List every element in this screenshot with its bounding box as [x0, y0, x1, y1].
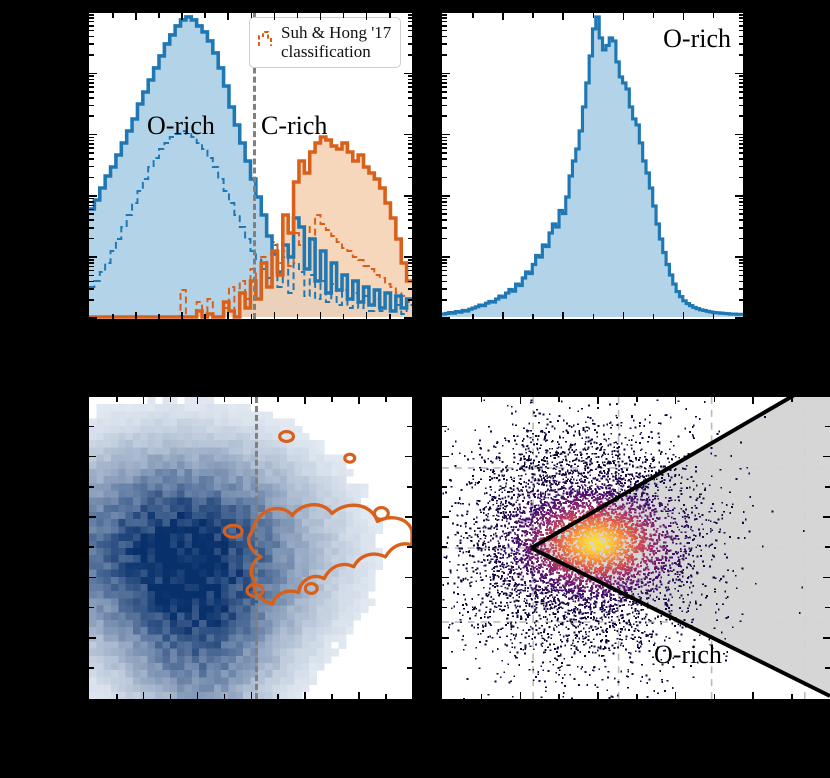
axis-tick — [343, 13, 345, 18]
axis-tick — [442, 275, 447, 277]
axis-tick — [89, 86, 94, 88]
legend-step-marker-icon — [257, 26, 273, 52]
axis-tick — [408, 143, 413, 145]
axis-tick — [407, 426, 412, 428]
axis-tick — [408, 299, 413, 301]
axis-tick — [739, 158, 744, 160]
axis-tick — [89, 21, 94, 23]
axis-tick — [89, 152, 94, 154]
axis-tick — [89, 275, 94, 277]
axis-tick — [408, 54, 413, 56]
axis-tick — [442, 75, 447, 77]
axis-tick — [823, 577, 830, 579]
axis-tick — [389, 13, 391, 18]
axis-tick — [408, 137, 413, 139]
axis-tick — [714, 397, 716, 402]
axis-tick — [442, 115, 447, 117]
axis-tick — [442, 147, 447, 149]
axis-tick — [825, 486, 830, 488]
axis-tick — [735, 134, 743, 136]
axis-tick — [89, 667, 94, 669]
axis-tick — [227, 13, 229, 20]
axis-tick — [274, 312, 276, 319]
axis-tick — [442, 54, 447, 56]
axis-tick — [116, 694, 118, 699]
axis-tick — [739, 54, 744, 56]
axis-tick — [143, 397, 145, 404]
axis-tick — [408, 17, 413, 19]
axis-tick — [739, 201, 744, 203]
axis-tick — [204, 13, 206, 18]
axis-tick — [274, 13, 276, 20]
axis-tick — [562, 13, 564, 20]
axis-tick — [442, 213, 447, 215]
axis-tick — [752, 397, 754, 404]
axis-tick — [739, 281, 744, 283]
axis-tick — [442, 134, 450, 136]
axis-tick — [735, 195, 743, 197]
axis-tick — [408, 275, 413, 277]
axis-tick — [89, 198, 94, 200]
label-o-rich-bottomright: O-rich — [654, 642, 722, 668]
axis-tick — [442, 607, 447, 609]
axis-tick — [442, 21, 447, 23]
axis-tick — [408, 288, 413, 290]
axis-tick — [562, 312, 564, 319]
axis-tick — [442, 152, 447, 154]
axis-tick — [89, 143, 94, 145]
axis-tick — [405, 577, 412, 579]
axis-tick — [89, 486, 94, 488]
axis-tick — [739, 91, 744, 93]
axis-tick — [735, 73, 743, 75]
axis-tick — [558, 397, 560, 402]
axis-tick — [89, 17, 94, 19]
axis-tick — [739, 262, 744, 264]
axis-tick — [739, 205, 744, 207]
axis-tick — [752, 692, 754, 699]
legend-line-2: classification — [281, 42, 371, 61]
axis-tick — [89, 137, 94, 139]
axis-tick — [89, 546, 94, 548]
axis-tick — [442, 30, 447, 32]
axis-tick — [366, 13, 368, 20]
axis-tick — [251, 314, 253, 319]
axis-tick — [442, 262, 447, 264]
panel-top-left[interactable]: O-rich C-rich Suh & Hong '17classificati… — [87, 11, 414, 321]
axis-tick — [442, 266, 447, 268]
axis-tick — [442, 14, 447, 16]
axis-tick — [739, 166, 744, 168]
axis-tick — [170, 397, 172, 402]
axis-tick — [442, 166, 447, 168]
axis-tick — [739, 299, 744, 301]
axis-tick — [158, 314, 160, 319]
axis-tick — [520, 397, 522, 404]
axis-tick — [442, 97, 447, 99]
axis-tick — [343, 314, 345, 319]
axis-tick — [442, 158, 447, 160]
axis-tick — [636, 694, 638, 699]
axis-tick — [89, 25, 94, 27]
axis-tick — [251, 692, 253, 699]
axis-tick — [408, 227, 413, 229]
axis-tick — [442, 43, 447, 45]
panel-bottom-left[interactable] — [87, 395, 414, 701]
axis-tick — [739, 219, 744, 221]
axis-tick — [408, 36, 413, 38]
axis-tick — [224, 694, 226, 699]
axis-tick — [597, 692, 599, 699]
axis-tick — [89, 166, 94, 168]
axis-tick — [89, 73, 97, 75]
axis-tick — [683, 13, 685, 20]
axis-tick — [739, 270, 744, 272]
axis-tick — [825, 546, 830, 548]
density-map-bottom-left — [89, 397, 412, 699]
axis-tick — [89, 140, 94, 142]
axis-tick — [408, 219, 413, 221]
axis-tick — [739, 266, 744, 268]
axis-tick — [442, 259, 447, 261]
axis-tick — [224, 397, 226, 402]
axis-tick — [89, 288, 94, 290]
axis-tick — [358, 397, 360, 404]
axis-tick — [408, 140, 413, 142]
axis-tick — [823, 456, 830, 458]
axis-tick — [89, 456, 96, 458]
figure-root: O-rich C-rich Suh & Hong '17classificati… — [0, 0, 830, 778]
axis-tick — [405, 637, 412, 639]
axis-tick — [158, 13, 160, 18]
legend-suh-hong[interactable]: Suh & Hong '17classification — [249, 17, 401, 68]
axis-tick — [739, 275, 744, 277]
axis-tick — [408, 91, 413, 93]
axis-tick — [89, 426, 94, 428]
axis-tick — [170, 694, 172, 699]
axis-tick — [408, 82, 413, 84]
axis-tick — [442, 201, 447, 203]
axis-tick — [408, 105, 413, 107]
histogram-top-right — [442, 13, 743, 319]
axis-tick — [404, 195, 412, 197]
axis-tick — [442, 91, 447, 93]
axis-tick — [331, 397, 333, 402]
axis-tick — [825, 607, 830, 609]
axis-tick — [389, 314, 391, 319]
axis-tick — [739, 36, 744, 38]
axis-tick — [408, 209, 413, 211]
axis-tick — [675, 397, 677, 404]
axis-tick — [408, 198, 413, 200]
axis-tick — [89, 299, 94, 301]
axis-tick — [331, 694, 333, 699]
axis-tick — [408, 281, 413, 283]
axis-tick — [593, 13, 595, 18]
axis-tick — [739, 198, 744, 200]
axis-tick — [739, 238, 744, 240]
axis-tick — [442, 238, 447, 240]
axis-tick — [623, 13, 625, 20]
axis-tick — [89, 607, 94, 609]
axis-tick — [89, 82, 94, 84]
legend-label: Suh & Hong '17classification — [281, 23, 391, 61]
axis-tick — [442, 456, 449, 458]
axis-tick — [442, 105, 447, 107]
axis-tick — [407, 667, 412, 669]
axis-tick — [89, 97, 94, 99]
axis-tick — [89, 262, 94, 264]
axis-tick — [89, 134, 97, 136]
axis-tick — [442, 177, 447, 179]
scatter-density-bottom-right — [442, 397, 830, 699]
legend-line-1: Suh & Hong '17 — [281, 23, 391, 42]
axis-tick — [89, 637, 96, 639]
axis-tick — [739, 75, 744, 77]
axis-tick — [181, 13, 183, 20]
axis-tick — [739, 213, 744, 215]
axis-tick — [675, 692, 677, 699]
axis-tick — [89, 281, 94, 283]
axis-tick — [442, 137, 447, 139]
axis-tick — [739, 209, 744, 211]
axis-tick — [825, 426, 830, 428]
axis-tick — [251, 13, 253, 18]
axis-tick — [89, 91, 94, 93]
axis-tick — [408, 266, 413, 268]
axis-tick — [89, 205, 94, 207]
axis-tick — [442, 205, 447, 207]
axis-tick — [442, 198, 447, 200]
axis-tick — [442, 516, 449, 518]
panel-bottom-right[interactable]: O-rich — [440, 395, 830, 701]
axis-tick — [739, 115, 744, 117]
axis-tick — [739, 21, 744, 23]
axis-tick — [89, 158, 94, 160]
axis-tick — [408, 259, 413, 261]
axis-tick — [135, 312, 137, 319]
axis-tick — [520, 692, 522, 699]
axis-tick — [408, 262, 413, 264]
axis-tick — [442, 79, 447, 81]
axis-tick — [385, 397, 387, 402]
axis-tick — [89, 147, 94, 149]
axis-tick — [532, 13, 534, 18]
axis-tick — [739, 43, 744, 45]
axis-tick — [181, 312, 183, 319]
label-o-rich-topleft: O-rich — [147, 113, 215, 139]
axis-tick — [825, 667, 830, 669]
axis-tick — [408, 166, 413, 168]
axis-tick — [791, 694, 793, 699]
axis-tick — [714, 694, 716, 699]
axis-tick — [408, 115, 413, 117]
axis-tick — [227, 312, 229, 319]
axis-tick — [89, 256, 97, 258]
axis-tick — [407, 546, 412, 548]
axis-tick — [739, 137, 744, 139]
axis-tick — [89, 36, 94, 38]
axis-tick — [408, 147, 413, 149]
axis-tick — [89, 238, 94, 240]
axis-tick — [739, 86, 744, 88]
axis-tick — [653, 13, 655, 18]
axis-tick — [623, 312, 625, 319]
axis-tick — [683, 312, 685, 319]
axis-tick — [304, 692, 306, 699]
axis-tick — [89, 79, 94, 81]
axis-tick — [116, 397, 118, 402]
axis-tick — [739, 152, 744, 154]
axis-tick — [791, 397, 793, 402]
axis-tick — [112, 314, 114, 319]
axis-tick — [442, 288, 447, 290]
axis-tick — [404, 73, 412, 75]
axis-tick — [407, 607, 412, 609]
axis-tick — [89, 195, 97, 197]
axis-tick — [739, 143, 744, 145]
axis-tick — [481, 397, 483, 402]
axis-tick — [593, 314, 595, 319]
axis-tick — [304, 397, 306, 404]
plot-area-bottom-right — [442, 397, 830, 699]
axis-tick — [407, 486, 412, 488]
axis-tick — [442, 143, 447, 145]
axis-tick — [408, 75, 413, 77]
axis-tick — [442, 577, 449, 579]
axis-tick — [442, 546, 447, 548]
axis-tick — [89, 516, 96, 518]
axis-tick — [597, 397, 599, 404]
axis-tick — [739, 14, 744, 16]
axis-tick — [823, 516, 830, 518]
axis-tick — [408, 25, 413, 27]
axis-tick — [408, 270, 413, 272]
axis-tick — [442, 637, 449, 639]
axis-tick — [197, 397, 199, 404]
axis-tick — [739, 82, 744, 84]
axis-tick — [442, 317, 450, 319]
axis-tick — [442, 86, 447, 88]
axis-tick — [739, 147, 744, 149]
axis-tick — [558, 694, 560, 699]
axis-tick — [297, 13, 299, 18]
axis-tick — [653, 314, 655, 319]
axis-tick — [143, 692, 145, 699]
axis-tick — [366, 312, 368, 319]
axis-tick — [277, 397, 279, 402]
axis-tick — [739, 105, 744, 107]
axis-tick — [197, 692, 199, 699]
axis-tick — [823, 637, 830, 639]
axis-tick — [405, 516, 412, 518]
axis-tick — [277, 694, 279, 699]
axis-tick — [320, 312, 322, 319]
axis-tick — [442, 486, 447, 488]
axis-tick — [739, 140, 744, 142]
axis-tick — [739, 227, 744, 229]
axis-tick — [442, 82, 447, 84]
axis-tick — [89, 14, 94, 16]
axis-tick — [408, 97, 413, 99]
axis-tick — [442, 36, 447, 38]
axis-tick — [739, 177, 744, 179]
axis-tick — [408, 43, 413, 45]
axis-tick — [739, 79, 744, 81]
axis-tick — [89, 177, 94, 179]
axis-tick — [297, 314, 299, 319]
axis-tick — [408, 205, 413, 207]
axis-tick — [442, 219, 447, 221]
axis-tick — [89, 115, 94, 117]
axis-tick — [442, 17, 447, 19]
axis-tick — [442, 227, 447, 229]
axis-tick — [89, 266, 94, 268]
axis-tick — [408, 30, 413, 32]
axis-tick — [735, 317, 743, 319]
axis-tick — [442, 270, 447, 272]
axis-tick — [735, 256, 743, 258]
axis-tick — [442, 426, 447, 428]
axis-tick — [739, 259, 744, 261]
axis-tick — [408, 238, 413, 240]
axis-tick — [251, 397, 253, 404]
axis-tick — [442, 209, 447, 211]
axis-tick — [442, 299, 447, 301]
axis-tick — [89, 259, 94, 261]
axis-tick — [89, 43, 94, 45]
axis-tick — [408, 201, 413, 203]
axis-tick — [89, 219, 94, 221]
axis-tick — [320, 13, 322, 20]
axis-tick — [404, 134, 412, 136]
axis-tick — [135, 13, 137, 20]
axis-tick — [408, 21, 413, 23]
axis-tick — [404, 256, 412, 258]
axis-tick — [442, 667, 447, 669]
axis-tick — [442, 256, 450, 258]
label-c-rich-topleft: C-rich — [261, 113, 327, 139]
axis-tick — [89, 317, 97, 319]
axis-tick — [89, 270, 94, 272]
axis-tick — [442, 281, 447, 283]
axis-tick — [532, 314, 534, 319]
axis-tick — [481, 694, 483, 699]
axis-tick — [472, 13, 474, 18]
axis-tick — [472, 314, 474, 319]
axis-tick — [739, 30, 744, 32]
axis-tick — [408, 79, 413, 81]
axis-tick — [408, 213, 413, 215]
axis-tick — [89, 201, 94, 203]
axis-tick — [442, 195, 450, 197]
plot-area-bottom-left — [89, 397, 412, 699]
axis-tick — [89, 75, 94, 77]
plot-area-top-right — [442, 13, 743, 319]
axis-tick — [739, 288, 744, 290]
axis-tick — [442, 73, 450, 75]
axis-tick — [385, 694, 387, 699]
axis-tick — [408, 86, 413, 88]
axis-tick — [739, 97, 744, 99]
axis-tick — [408, 177, 413, 179]
axis-tick — [89, 227, 94, 229]
axis-tick — [636, 397, 638, 402]
label-o-rich-topright: O-rich — [663, 26, 731, 52]
classification-divider-line-bottom — [255, 397, 258, 699]
axis-tick — [408, 158, 413, 160]
panel-top-right[interactable]: O-rich — [440, 11, 745, 321]
